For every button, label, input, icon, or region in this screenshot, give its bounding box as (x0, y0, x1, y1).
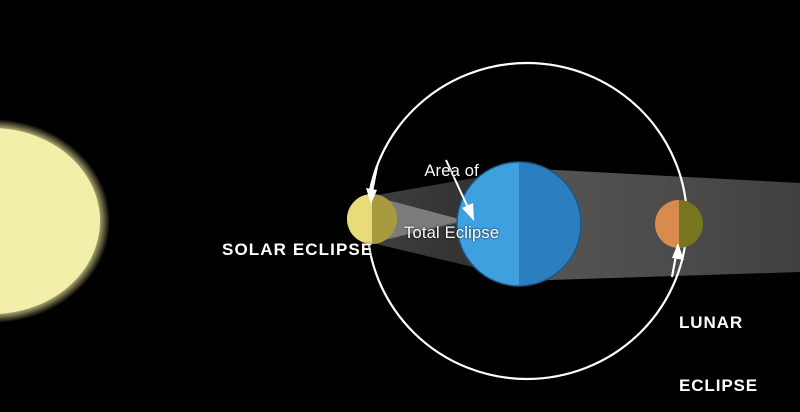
area-of-total-eclipse-line1: Area of (404, 161, 499, 182)
lunar-eclipse-label-line1: LUNAR (679, 313, 758, 334)
area-of-total-eclipse-line2: Total Eclipse (404, 223, 499, 244)
lunar-eclipse-label-line2: ECLIPSE (679, 376, 758, 397)
full-moon (655, 200, 703, 248)
solar-eclipse-label: SOLAR ECLIPSE (222, 240, 373, 260)
area-of-total-eclipse-label: Area of Total Eclipse (404, 120, 499, 285)
lunar-eclipse-label: LUNAR ECLIPSE (679, 272, 758, 412)
eclipse-diagram: SOLAR ECLIPSE LUNAR ECLIPSE Area of Tota… (0, 0, 800, 412)
